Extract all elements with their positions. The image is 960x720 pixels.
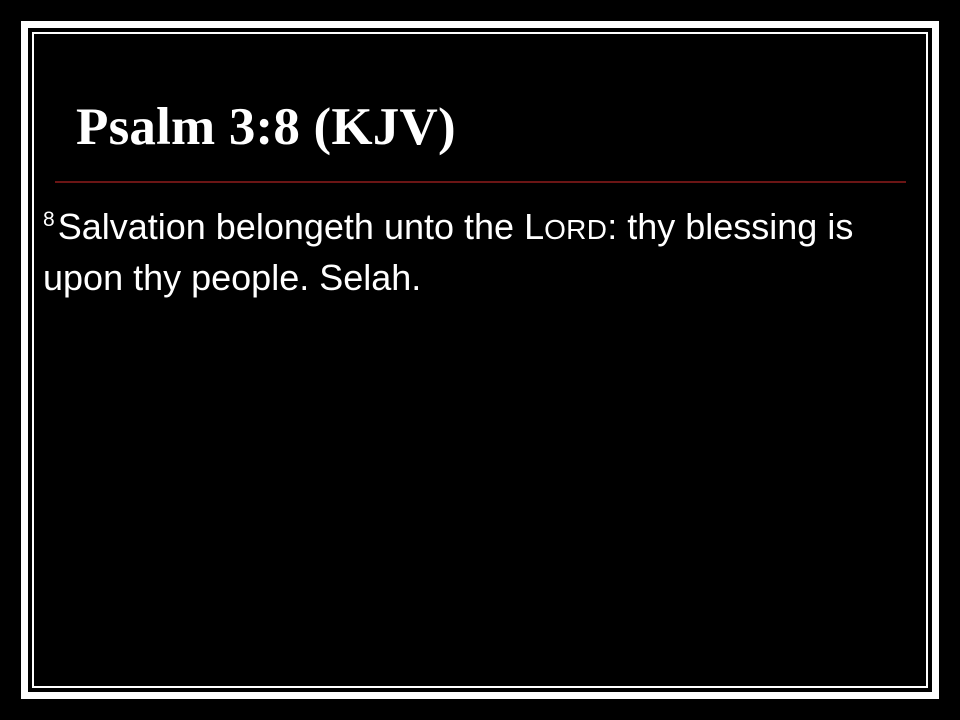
title-divider-rule (55, 181, 906, 183)
verse-number: 8 (43, 208, 55, 231)
slide-title-block: Psalm 3:8 (KJV) (76, 96, 916, 166)
page-title: Psalm 3:8 (KJV) (76, 96, 916, 158)
scripture-text: 8Salvation belongeth unto the LORD: thy … (43, 196, 915, 302)
divine-name-small-caps: ORD (544, 214, 607, 245)
divine-name: LORD (524, 206, 607, 247)
scripture-text-part-1: Salvation belongeth unto the (58, 206, 524, 247)
slide-body-block: 8Salvation belongeth unto the LORD: thy … (43, 196, 915, 302)
presentation-slide: Psalm 3:8 (KJV) 8Salvation belongeth unt… (0, 0, 960, 720)
divine-name-capital: L (524, 206, 544, 247)
